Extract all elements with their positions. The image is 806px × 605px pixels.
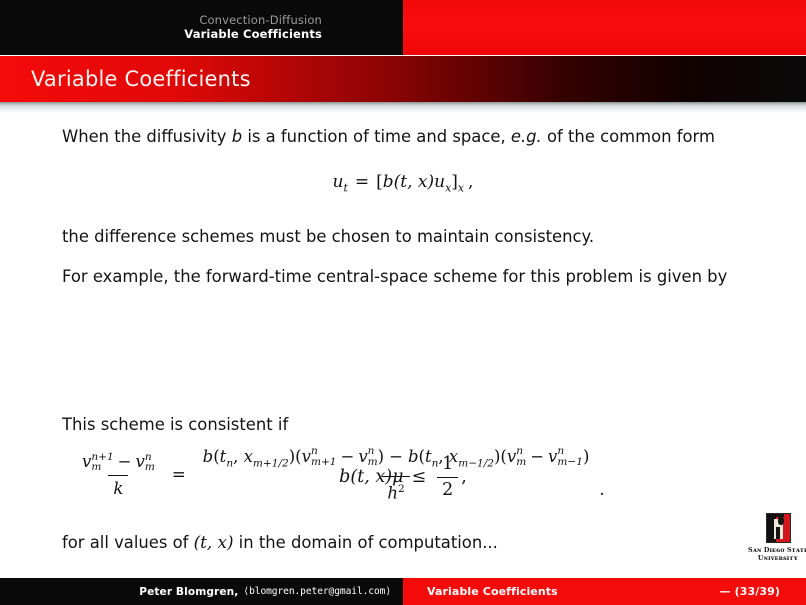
eq3-numerator: 1: [437, 453, 458, 477]
text-frag: When the diffusivity: [62, 127, 232, 146]
header-breadcrumb: Convection-Diffusion Variable Coefficien…: [0, 0, 403, 55]
text-eg: e.g.: [511, 127, 542, 146]
paragraph-ftcs: For example, the forward-time central-sp…: [62, 265, 730, 289]
paragraph-domain: for all values of (t, x) in the domain o…: [62, 531, 730, 555]
footer-bar: Peter Blomgren, ⟨blomgren.peter@gmail.co…: [0, 578, 806, 605]
equation-pde: ut=[b(t, x)ux]x,: [0, 171, 806, 199]
footer-page-number: — (33/39): [720, 585, 780, 598]
eq1-comma: ,: [468, 172, 473, 192]
header-bar: Convection-Diffusion Variable Coefficien…: [0, 0, 806, 55]
symbol-tx: (t, x): [194, 532, 234, 552]
paragraph-consistent-if: This scheme is consistent if: [62, 413, 730, 437]
eq3-mu: μ: [392, 467, 403, 487]
paragraph-intro: When the diffusivity b is a function of …: [62, 125, 730, 149]
symbol-b: b: [232, 127, 242, 146]
eq1-args: (t, x): [394, 172, 435, 192]
footer-author-email[interactable]: ⟨blomgren.peter@gmail.com⟩: [243, 586, 391, 597]
footer-author-block: Peter Blomgren, ⟨blomgren.peter@gmail.co…: [0, 578, 403, 605]
slide-title-bar: Variable Coefficients: [0, 56, 806, 102]
logo-line-1: Sᴀɴ Dɪᴇɢᴏ Sᴛᴀᴛᴇ: [748, 546, 806, 554]
eq1-equals: =: [355, 172, 369, 192]
breadcrumb-chapter[interactable]: Convection-Diffusion: [199, 13, 322, 27]
eq3-leq: ≤: [411, 467, 426, 487]
footer-nav-block: Variable Coefficients — (33/39): [403, 578, 806, 605]
eq1-b: b: [383, 172, 394, 192]
eq1-u2: u: [434, 172, 445, 192]
eq1-open-bracket: [: [376, 172, 383, 192]
paragraph-consistency: the difference schemes must be chosen to…: [62, 225, 730, 249]
eq1-u: u: [333, 172, 344, 192]
eq3-fraction: 12: [437, 453, 458, 502]
eq1-close-sub: x: [458, 181, 464, 194]
text-frag: in the domain of computation...: [233, 533, 497, 552]
slide: Convection-Diffusion Variable Coefficien…: [0, 0, 806, 605]
crest-shape-body: [776, 527, 780, 539]
eq3-denominator: 2: [437, 477, 458, 502]
breadcrumb-section[interactable]: Variable Coefficients: [184, 27, 322, 42]
sdsu-logo: Sᴀɴ Dɪᴇɢᴏ Sᴛᴀᴛᴇ Uɴɪᴠᴇʀѕɪᴛʏ: [756, 513, 800, 573]
text-frag: of the common form: [542, 127, 715, 146]
footer-section-title[interactable]: Variable Coefficients: [427, 585, 558, 598]
university-crest-icon: [766, 513, 791, 543]
crest-shape-head: [778, 516, 784, 525]
title-shadow: [0, 102, 806, 113]
page-title: Variable Coefficients: [0, 67, 251, 91]
eq3-comma: ,: [461, 467, 467, 487]
eq1-u-sub: t: [344, 181, 348, 194]
footer-author-name: Peter Blomgren,: [139, 586, 238, 598]
eq1-close-bracket: ]: [451, 172, 458, 192]
text-frag: for all values of: [62, 533, 194, 552]
logo-line-2: Uɴɪᴠᴇʀѕɪᴛʏ: [758, 554, 798, 562]
slide-content: When the diffusivity b is a function of …: [0, 113, 806, 573]
text-frag: is a function of time and space,: [242, 127, 511, 146]
equation-stability-condition: b(t, x)μ≤12,: [0, 453, 806, 502]
eq3-args: (t, x): [350, 467, 392, 487]
header-accent-block: [403, 0, 806, 55]
eq3-b: b: [339, 467, 350, 487]
